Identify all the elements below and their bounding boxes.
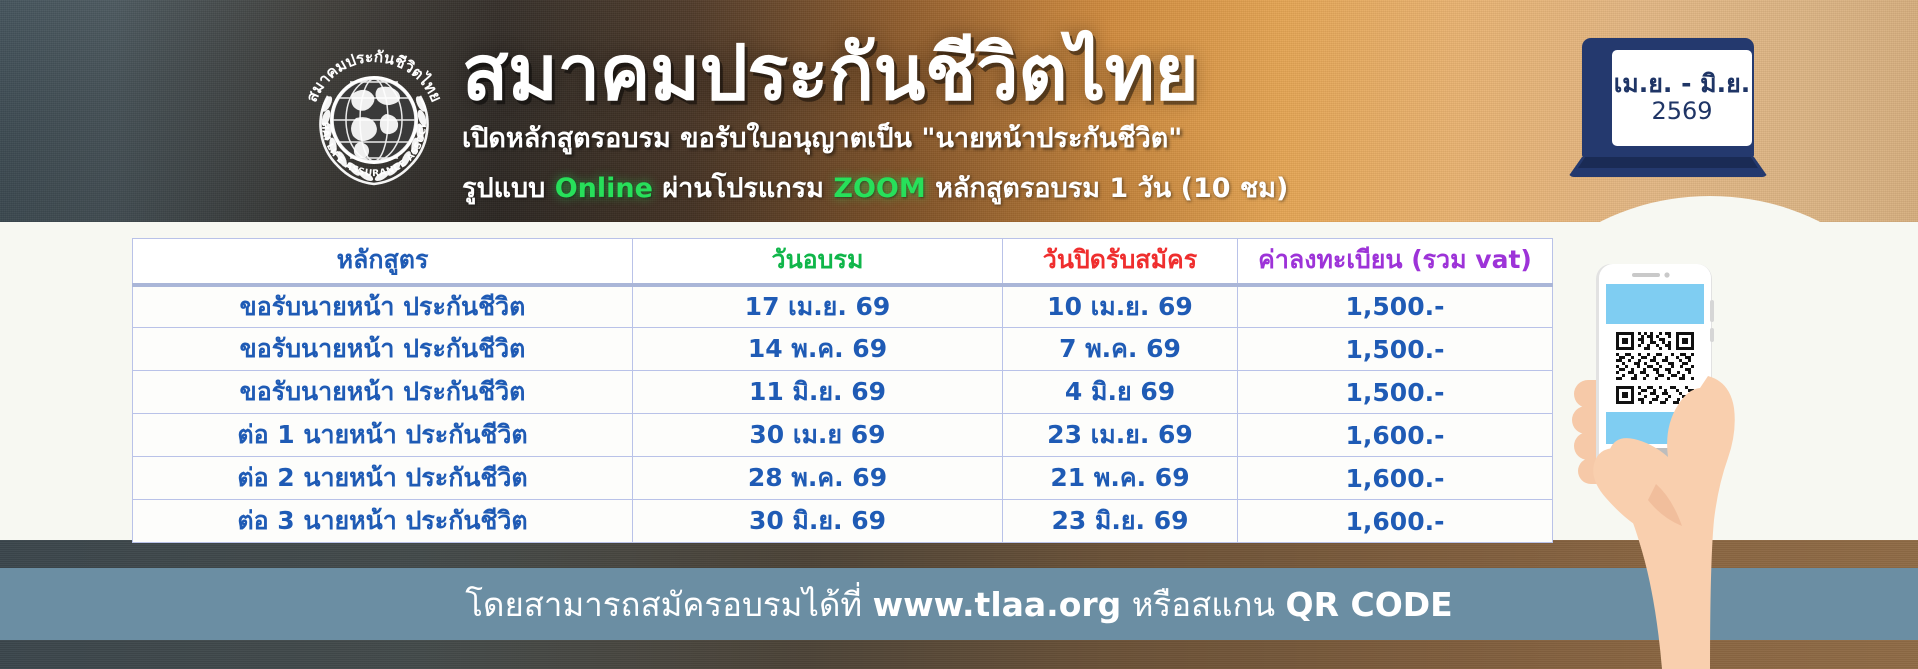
subtitle: เปิดหลักสูตรอบรม ขอรับใบอนุญาตเป็น "นายห… xyxy=(462,116,1462,159)
format-zoom-label: ZOOM xyxy=(833,173,925,204)
table-row: ขอรับนายหน้า ประกันชีวิต 14 พ.ค. 69 7 พ.… xyxy=(133,328,1553,371)
cell-training-date: 28 พ.ค. 69 xyxy=(633,457,1003,500)
cell-course: ต่อ 1 นายหน้า ประกันชีวิต xyxy=(133,414,633,457)
cell-course: ต่อ 2 นายหน้า ประกันชีวิต xyxy=(133,457,633,500)
table-row: ต่อ 1 นายหน้า ประกันชีวิต 30 เม.ย 69 23 … xyxy=(133,414,1553,457)
format-prefix: รูปแบบ xyxy=(462,173,555,204)
format-middle: ผ่านโปรแกรม xyxy=(653,173,833,204)
title-block: สมาคมประกันชีวิตไทย เปิดหลักสูตรอบรม ขอร… xyxy=(462,34,1462,209)
cell-fee: 1,500.- xyxy=(1238,371,1553,414)
footer-text-middle: หรือสแกน xyxy=(1121,585,1285,624)
cell-fee: 1,600.- xyxy=(1238,457,1553,500)
front-camera-icon xyxy=(1664,272,1669,277)
cell-closing-date: 21 พ.ค. 69 xyxy=(1003,457,1238,500)
cell-training-date: 30 เม.ย 69 xyxy=(633,414,1003,457)
format-online-label: Online xyxy=(555,173,653,204)
cell-fee: 1,600.- xyxy=(1238,500,1553,543)
cell-training-date: 14 พ.ค. 69 xyxy=(633,328,1003,371)
cell-closing-date: 10 เม.ย. 69 xyxy=(1003,285,1238,328)
cell-closing-date: 7 พ.ค. 69 xyxy=(1003,328,1238,371)
cell-closing-date: 23 เม.ย. 69 xyxy=(1003,414,1238,457)
cell-fee: 1,600.- xyxy=(1238,414,1553,457)
page-title: สมาคมประกันชีวิตไทย xyxy=(462,34,1462,112)
laptop-screen: เม.ย. - มิ.ย. 2569 xyxy=(1612,50,1752,146)
badge-year: 2569 xyxy=(1651,98,1712,126)
cell-fee: 1,500.- xyxy=(1238,285,1553,328)
table-row: ต่อ 3 นายหน้า ประกันชีวิต 30 มิ.ย. 69 23… xyxy=(133,500,1553,543)
cell-course: ต่อ 3 นายหน้า ประกันชีวิต xyxy=(133,500,633,543)
column-header-training-date: วันอบรม xyxy=(633,239,1003,285)
cell-training-date: 11 มิ.ย. 69 xyxy=(633,371,1003,414)
promo-banner: สมาคมประกันชีวิตไทย THE THAI LIFE ASSURA… xyxy=(0,0,1918,669)
table-header-row: หลักสูตร วันอบรม วันปิดรับสมัคร ค่าลงทะเ… xyxy=(133,239,1553,285)
cell-course: ขอรับนายหน้า ประกันชีวิต xyxy=(133,285,633,328)
table-row: ขอรับนายหน้า ประกันชีวิต 11 มิ.ย. 69 4 ม… xyxy=(133,371,1553,414)
schedule-table: หลักสูตร วันอบรม วันปิดรับสมัคร ค่าลงทะเ… xyxy=(132,238,1553,543)
footer-text-before: โดยสามารถสมัครอบรมได้ที่ xyxy=(465,585,872,624)
column-header-fee: ค่าลงทะเบียน (รวม vat) xyxy=(1238,239,1553,285)
column-header-course: หลักสูตร xyxy=(133,239,633,285)
course-format-line: รูปแบบ Online ผ่านโปรแกรม ZOOM หลักสูตรอ… xyxy=(462,166,1462,209)
table-row: ขอรับนายหน้า ประกันชีวิต 17 เม.ย. 69 10 … xyxy=(133,285,1553,328)
format-suffix: หลักสูตรอบรม 1 วัน (10 ชม) xyxy=(926,173,1289,204)
table-row: ต่อ 2 นายหน้า ประกันชีวิต 28 พ.ค. 69 21 … xyxy=(133,457,1553,500)
badge-period: เม.ย. - มิ.ย. xyxy=(1614,70,1751,98)
cell-course: ขอรับนายหน้า ประกันชีวิต xyxy=(133,371,633,414)
footer-website-link[interactable]: www.tlaa.org xyxy=(873,585,1122,624)
column-header-closing-date: วันปิดรับสมัคร xyxy=(1003,239,1238,285)
laptop-date-badge: เม.ย. - มิ.ย. 2569 xyxy=(1568,38,1768,188)
cell-closing-date: 4 มิ.ย 69 xyxy=(1003,371,1238,414)
cell-closing-date: 23 มิ.ย. 69 xyxy=(1003,500,1238,543)
header: สมาคมประกันชีวิตไทย THE THAI LIFE ASSURA… xyxy=(0,0,1918,222)
phone-with-qr-illustration xyxy=(1560,248,1860,669)
cell-course: ขอรับนายหน้า ประกันชีวิต xyxy=(133,328,633,371)
schedule-table-wrapper: หลักสูตร วันอบรม วันปิดรับสมัคร ค่าลงทะเ… xyxy=(132,238,1552,543)
cell-training-date: 17 เม.ย. 69 xyxy=(633,285,1003,328)
tlaa-logo: สมาคมประกันชีวิตไทย THE THAI LIFE ASSURA… xyxy=(294,38,454,198)
cell-fee: 1,500.- xyxy=(1238,328,1553,371)
cell-training-date: 30 มิ.ย. 69 xyxy=(633,500,1003,543)
laptop-base-shadow xyxy=(1578,157,1758,168)
footer-text: โดยสามารถสมัครอบรมได้ที่ www.tlaa.org หร… xyxy=(465,588,1452,621)
footer-qr-label: QR CODE xyxy=(1286,585,1453,624)
laptop-lid: เม.ย. - มิ.ย. 2569 xyxy=(1582,38,1754,158)
earpiece-icon xyxy=(1632,273,1660,277)
